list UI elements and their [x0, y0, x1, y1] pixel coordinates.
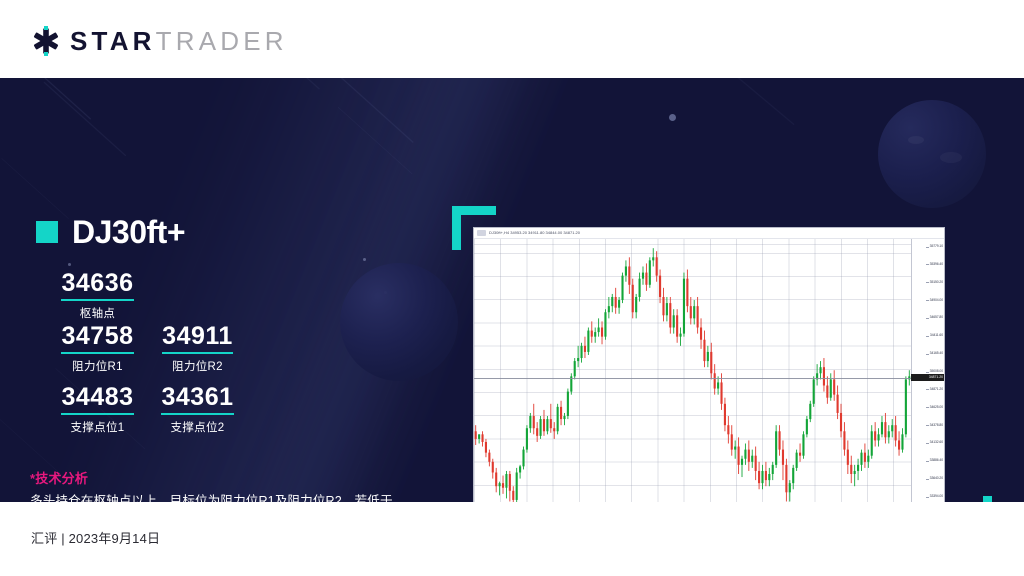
price-tick-label: 34411.60 [930, 334, 943, 337]
planet-crater [940, 152, 962, 163]
brand-name-bold: STAR [70, 26, 156, 56]
chart-title-bar: DJ30ft+,H4 34953.20 34911.80 34844.00 34… [474, 228, 944, 239]
chart-title: DJ30ft+,H4 34953.20 34911.80 34844.00 34… [489, 231, 580, 235]
page-header: STARTRADER [0, 0, 1024, 78]
page-footer: 汇评 | 2023年9月14日 [0, 502, 1024, 576]
price-axis[interactable]: 35779.1035396.4035150.2034904.0034657.80… [911, 239, 944, 502]
level-label: 支撑点位2 [140, 419, 255, 435]
price-tick-label: 34378.80 [930, 424, 943, 427]
chart-symbol-chip [477, 230, 486, 236]
technical-analysis-title: *技术分析 [30, 468, 402, 487]
brand-wordmark: STARTRADER [70, 28, 288, 54]
level-label: 枢轴点 [40, 305, 155, 321]
chart-plot-area[interactable] [474, 239, 911, 502]
level-resistance-2: 34911 阻力位R2 [140, 323, 255, 374]
logo-accent-top [44, 26, 48, 30]
level-support-1: 34483 支撑点位1 [40, 384, 155, 435]
level-value: 34361 [161, 384, 233, 415]
current-price-badge: 34871.20 [911, 374, 944, 381]
price-tick-label: 33394.00 [930, 495, 943, 498]
asterisk-star-icon [31, 26, 61, 56]
level-value: 34758 [61, 323, 133, 354]
price-tick-label: 33886.40 [930, 459, 943, 462]
level-pivot: 34636 枢轴点 [40, 270, 155, 321]
price-tick-label: 34904.00 [930, 299, 943, 302]
level-resistance-1: 34758 阻力位R1 [40, 323, 155, 374]
price-tick-label: 35779.10 [930, 245, 943, 248]
price-tick-label: 35396.40 [930, 263, 943, 266]
planet-sphere-left [340, 263, 458, 381]
level-value: 34636 [61, 270, 133, 301]
candlestick-series [474, 239, 911, 502]
decor-dot [363, 258, 366, 261]
price-tick-label: 35150.20 [930, 281, 943, 284]
price-tick-label: 34625.00 [930, 406, 943, 409]
symbol-swatch-icon [36, 221, 58, 243]
decor-dot [669, 114, 676, 121]
page-title: DJ30ft+ [72, 216, 185, 248]
level-value: 34483 [61, 384, 133, 415]
brand-name-light: TRADER [156, 26, 288, 56]
price-tick-label: 34165.40 [930, 352, 943, 355]
current-price-line [474, 378, 911, 379]
technical-analysis-body: 多头持仓在枢轴点以上，目标位为阻力位R1及阻力位R2。若低于枢轴点，则可能下跌至… [30, 492, 402, 502]
price-tick-label: 33640.20 [930, 477, 943, 480]
planet-sphere-right [878, 100, 986, 208]
decor-streak [44, 81, 127, 156]
decor-streak [625, 78, 795, 125]
price-tick-label: 35008.00 [930, 370, 943, 373]
hero-stage: DJ30ft+ 34636 枢轴点 34758 阻力位R1 34911 阻力位R… [0, 78, 1024, 502]
symbol-title-row: DJ30ft+ [36, 216, 185, 248]
level-support-2: 34361 支撑点位2 [140, 384, 255, 435]
decor-streak [1, 158, 69, 219]
logo-accent-bottom [44, 52, 48, 56]
level-value: 34911 [162, 323, 233, 354]
decor-streak [0, 78, 91, 120]
level-label: 阻力位R2 [140, 358, 255, 374]
level-label: 阻力位R1 [40, 358, 155, 374]
level-label: 支撑点位1 [40, 419, 155, 435]
decor-dot [68, 263, 71, 266]
footer-caption: 汇评 | 2023年9月14日 [31, 528, 160, 547]
technical-analysis-block: *技术分析 多头持仓在枢轴点以上，目标位为阻力位R1及阻力位R2。若低于枢轴点，… [30, 468, 402, 502]
price-tick-label: 34657.80 [930, 316, 943, 319]
price-tick-label: 34871.20 [930, 388, 943, 391]
price-tick-label: 34132.60 [930, 441, 943, 444]
brand-logo[interactable]: STARTRADER [31, 26, 288, 56]
price-chart-window[interactable]: DJ30ft+,H4 34953.20 34911.80 34844.00 34… [473, 227, 945, 502]
planet-crater [908, 136, 924, 144]
